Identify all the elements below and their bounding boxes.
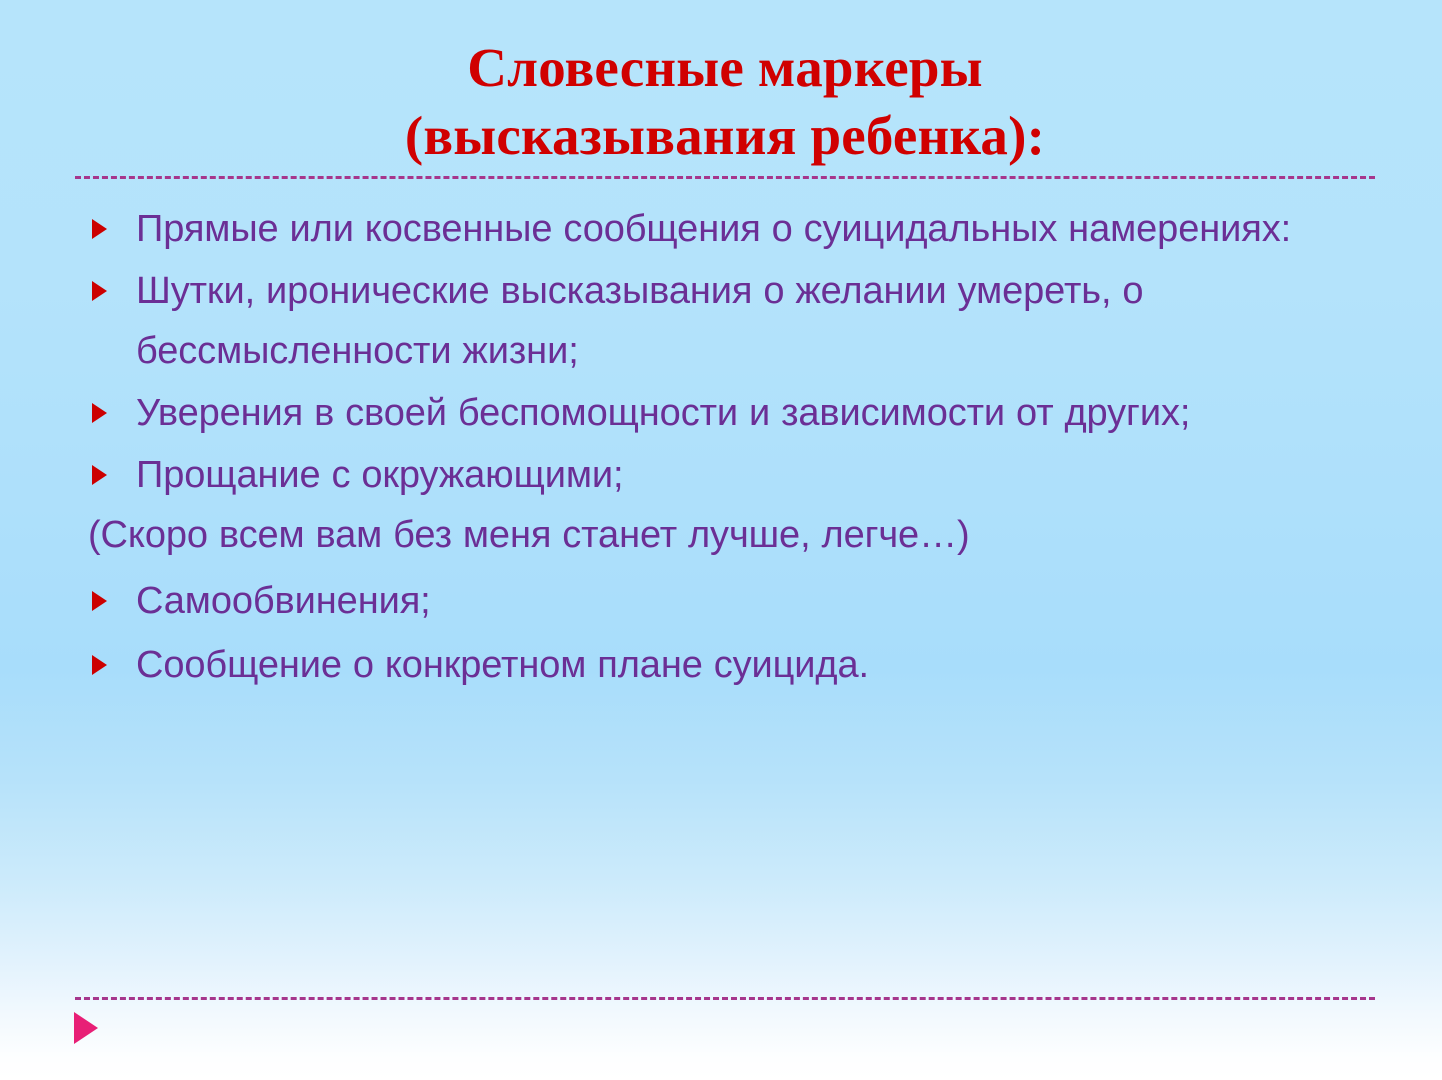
triangle-right-icon — [92, 403, 107, 423]
presentation-slide: Словесные маркеры (высказывания ребенка)… — [0, 0, 1442, 1080]
list-item-label: Уверения в своей беспомощности и зависим… — [136, 383, 1378, 443]
slide-title: Словесные маркеры (высказывания ребенка)… — [75, 34, 1375, 170]
list-item-label: Самообвинения; — [136, 571, 1378, 631]
list-item-label: Шутки, иронические высказывания о желани… — [136, 261, 1378, 381]
list-item-label: Прямые или косвенные сообщения о суицида… — [136, 199, 1378, 259]
list-item: Сообщение о конкретном плане суицида. — [78, 635, 1378, 695]
slide-title-line-2: (высказывания ребенка): — [75, 102, 1375, 170]
triangle-right-icon — [92, 591, 107, 611]
list-item-label: Прощание с окружающими; — [136, 445, 1378, 505]
list-item: Самообвинения; — [78, 571, 1378, 631]
list-item: Шутки, иронические высказывания о желани… — [78, 261, 1378, 381]
footer-triangle-right-icon — [74, 1012, 98, 1044]
list-item: Прощание с окружающими; — [78, 445, 1378, 505]
list-item-label: Сообщение о конкретном плане суицида. — [136, 635, 1378, 695]
divider-top — [75, 176, 1375, 179]
divider-bottom — [75, 997, 1375, 1000]
triangle-right-icon — [92, 281, 107, 301]
triangle-right-icon — [92, 219, 107, 239]
list-item-label: (Скоро всем вам без меня станет лучше, л… — [88, 505, 1378, 565]
triangle-right-icon — [92, 655, 107, 675]
list-item-unbulleted: (Скоро всем вам без меня станет лучше, л… — [78, 505, 1378, 565]
slide-title-line-1: Словесные маркеры — [75, 34, 1375, 102]
triangle-right-icon — [92, 465, 107, 485]
list-item: Уверения в своей беспомощности и зависим… — [78, 383, 1378, 443]
list-item: Прямые или косвенные сообщения о суицида… — [78, 199, 1378, 259]
bullet-list: Прямые или косвенные сообщения о суицида… — [78, 199, 1378, 699]
